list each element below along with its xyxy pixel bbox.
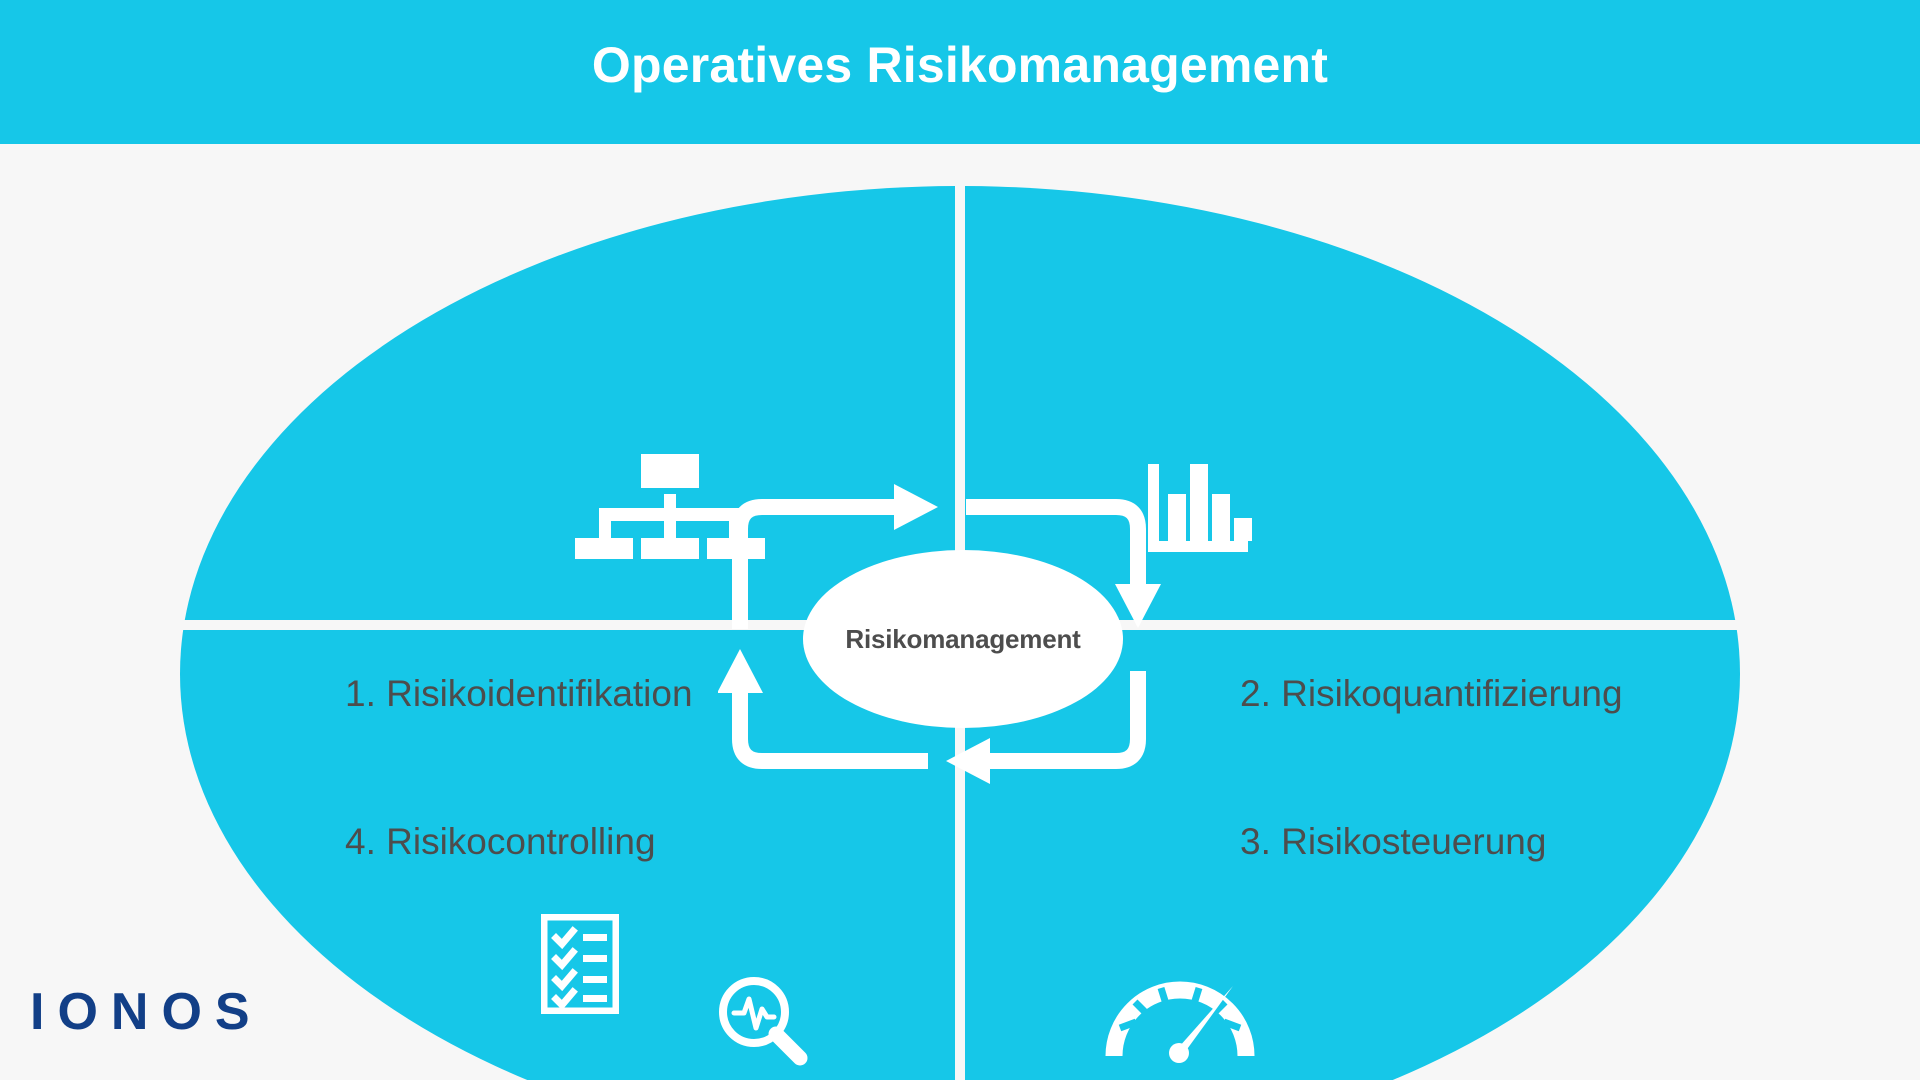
magnifier-pulse-icon xyxy=(714,972,810,1073)
quadrant-label-risikocontrolling: 4. Risikocontrolling xyxy=(345,819,656,865)
cycle-arrowhead-up xyxy=(718,649,763,693)
page-title: Operatives Risikomanagement xyxy=(0,30,1920,100)
cycle-arrowhead-left xyxy=(946,738,990,784)
ionos-logo: IONOS xyxy=(30,982,263,1042)
center-label: Risikomanagement xyxy=(803,550,1123,728)
header-bar: Operatives Risikomanagement xyxy=(0,0,1920,144)
risk-management-cycle-diagram: Risikomanagement 1. Risikoidentifikation… xyxy=(0,144,1920,1080)
quadrant-label-risikoquantifizierung: 2. Risikoquantifizierung xyxy=(1240,671,1623,717)
quadrant-label-risikoidentifikation: 1. Risikoidentifikation xyxy=(345,671,693,717)
speedometer-gauge-icon xyxy=(1105,964,1255,1069)
quadrant-label-risikosteuerung: 3. Risikosteuerung xyxy=(1240,819,1546,865)
cycle-arrowhead-right xyxy=(894,484,938,530)
checklist-icon xyxy=(541,914,619,1019)
infographic-canvas: Operatives Risikomanagement xyxy=(0,0,1920,1080)
